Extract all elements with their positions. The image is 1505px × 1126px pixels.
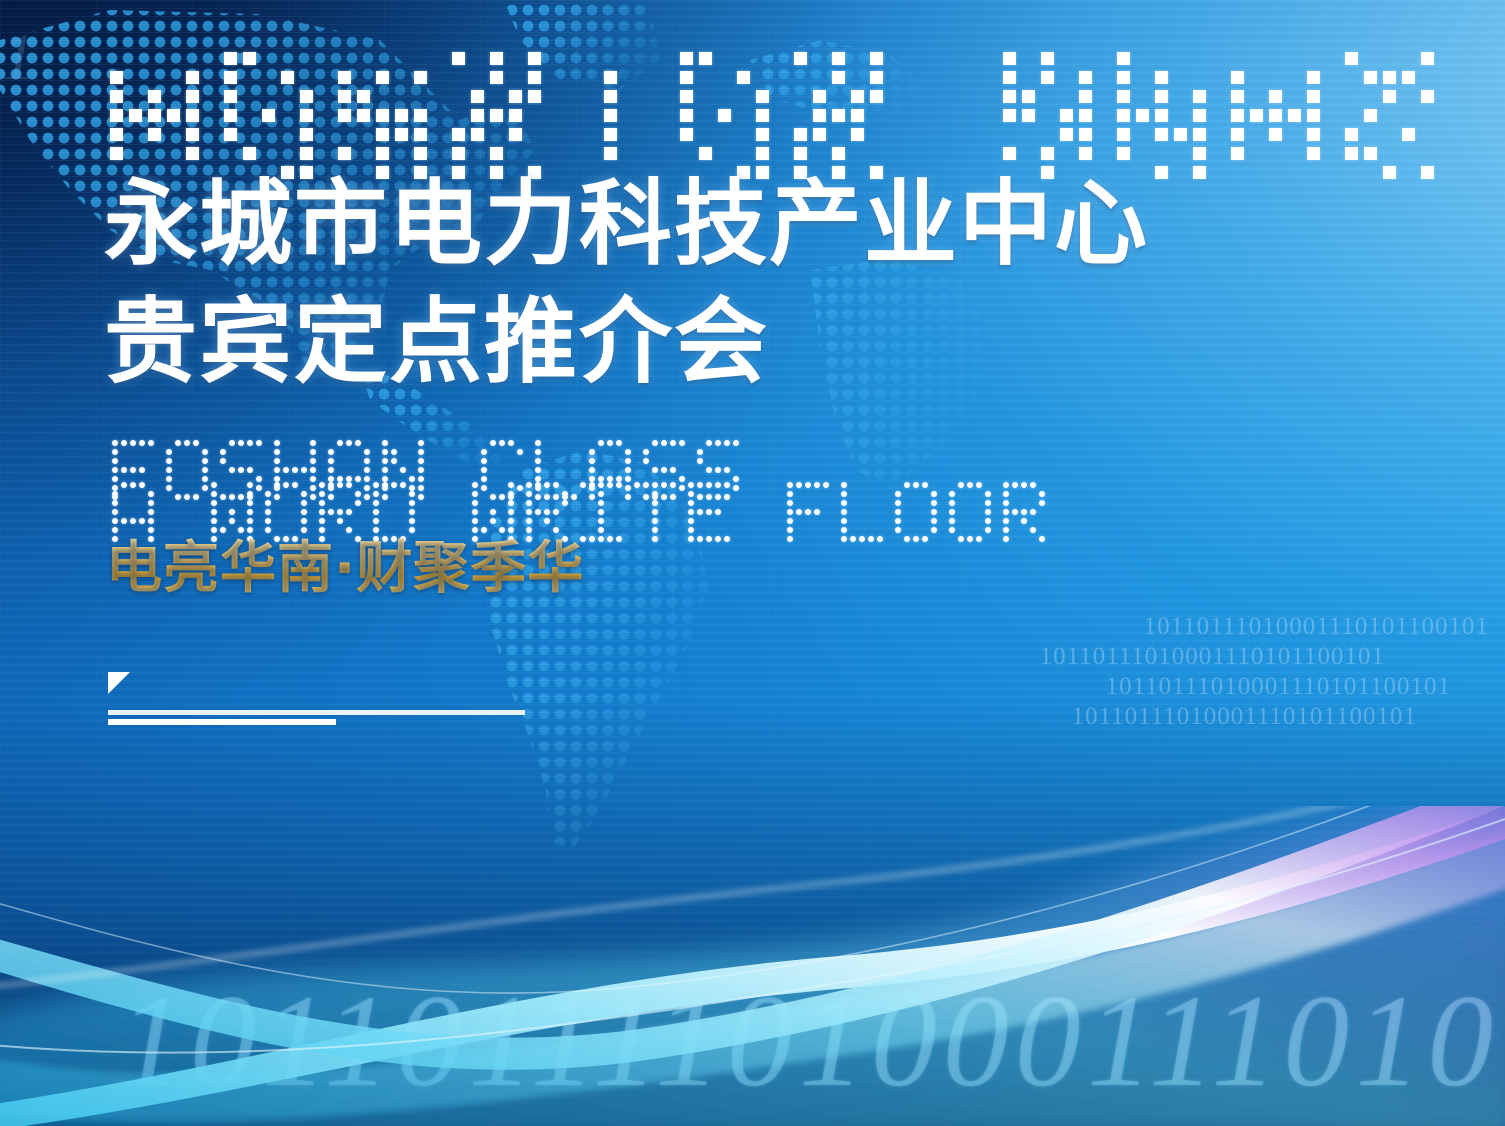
led-glyph	[908, 52, 1003, 185]
tagline: 电亮华南·财聚季华	[106, 538, 584, 600]
event-backdrop-poster: 1 10110111010001110101100101 10110111010…	[0, 0, 1505, 1126]
decorative-rule-group	[108, 672, 538, 728]
led-glyph	[1231, 52, 1326, 185]
binary-line: 10110111010001110101100101	[915, 642, 1495, 672]
led-glyph	[110, 52, 205, 185]
led-glyph	[949, 482, 994, 545]
led-glyph	[1117, 52, 1212, 185]
page-title-line-1: 永城市电力科技产业中心	[104, 178, 1149, 271]
led-glyph	[338, 52, 433, 185]
led-glyph	[634, 482, 679, 545]
led-glyph	[742, 482, 787, 545]
binary-line: 10110111010001110101100101	[915, 612, 1495, 642]
led-glyph	[1345, 52, 1440, 185]
led-glyph	[688, 482, 733, 545]
page-title-line-2: 贵宾定点推介会	[104, 296, 769, 389]
led-glyph	[452, 52, 547, 185]
led-glyph	[794, 52, 889, 185]
binary-text-block: 10110111010001110101100101 1011011101000…	[915, 612, 1495, 732]
light-ribbon-icon	[0, 806, 1505, 1126]
led-glyph	[895, 482, 940, 545]
led-glyph	[841, 482, 886, 545]
led-glyph	[566, 52, 661, 185]
divider-long	[108, 710, 525, 715]
led-glyph	[787, 482, 832, 545]
divider-short	[108, 719, 336, 725]
led-glyph	[680, 52, 775, 185]
stray-digit: 1	[2, 20, 35, 96]
kicker-led-text: SIGN-IN DESK	[110, 52, 1459, 185]
led-glyph	[1003, 482, 1048, 545]
binary-line: 10110111010001110101100101	[915, 672, 1495, 702]
led-glyph	[224, 52, 319, 185]
led-glyph	[580, 482, 625, 545]
triangle-flag-icon	[108, 672, 130, 694]
led-glyph	[1003, 52, 1098, 185]
binary-line: 10110111010001110101100101	[915, 702, 1495, 732]
